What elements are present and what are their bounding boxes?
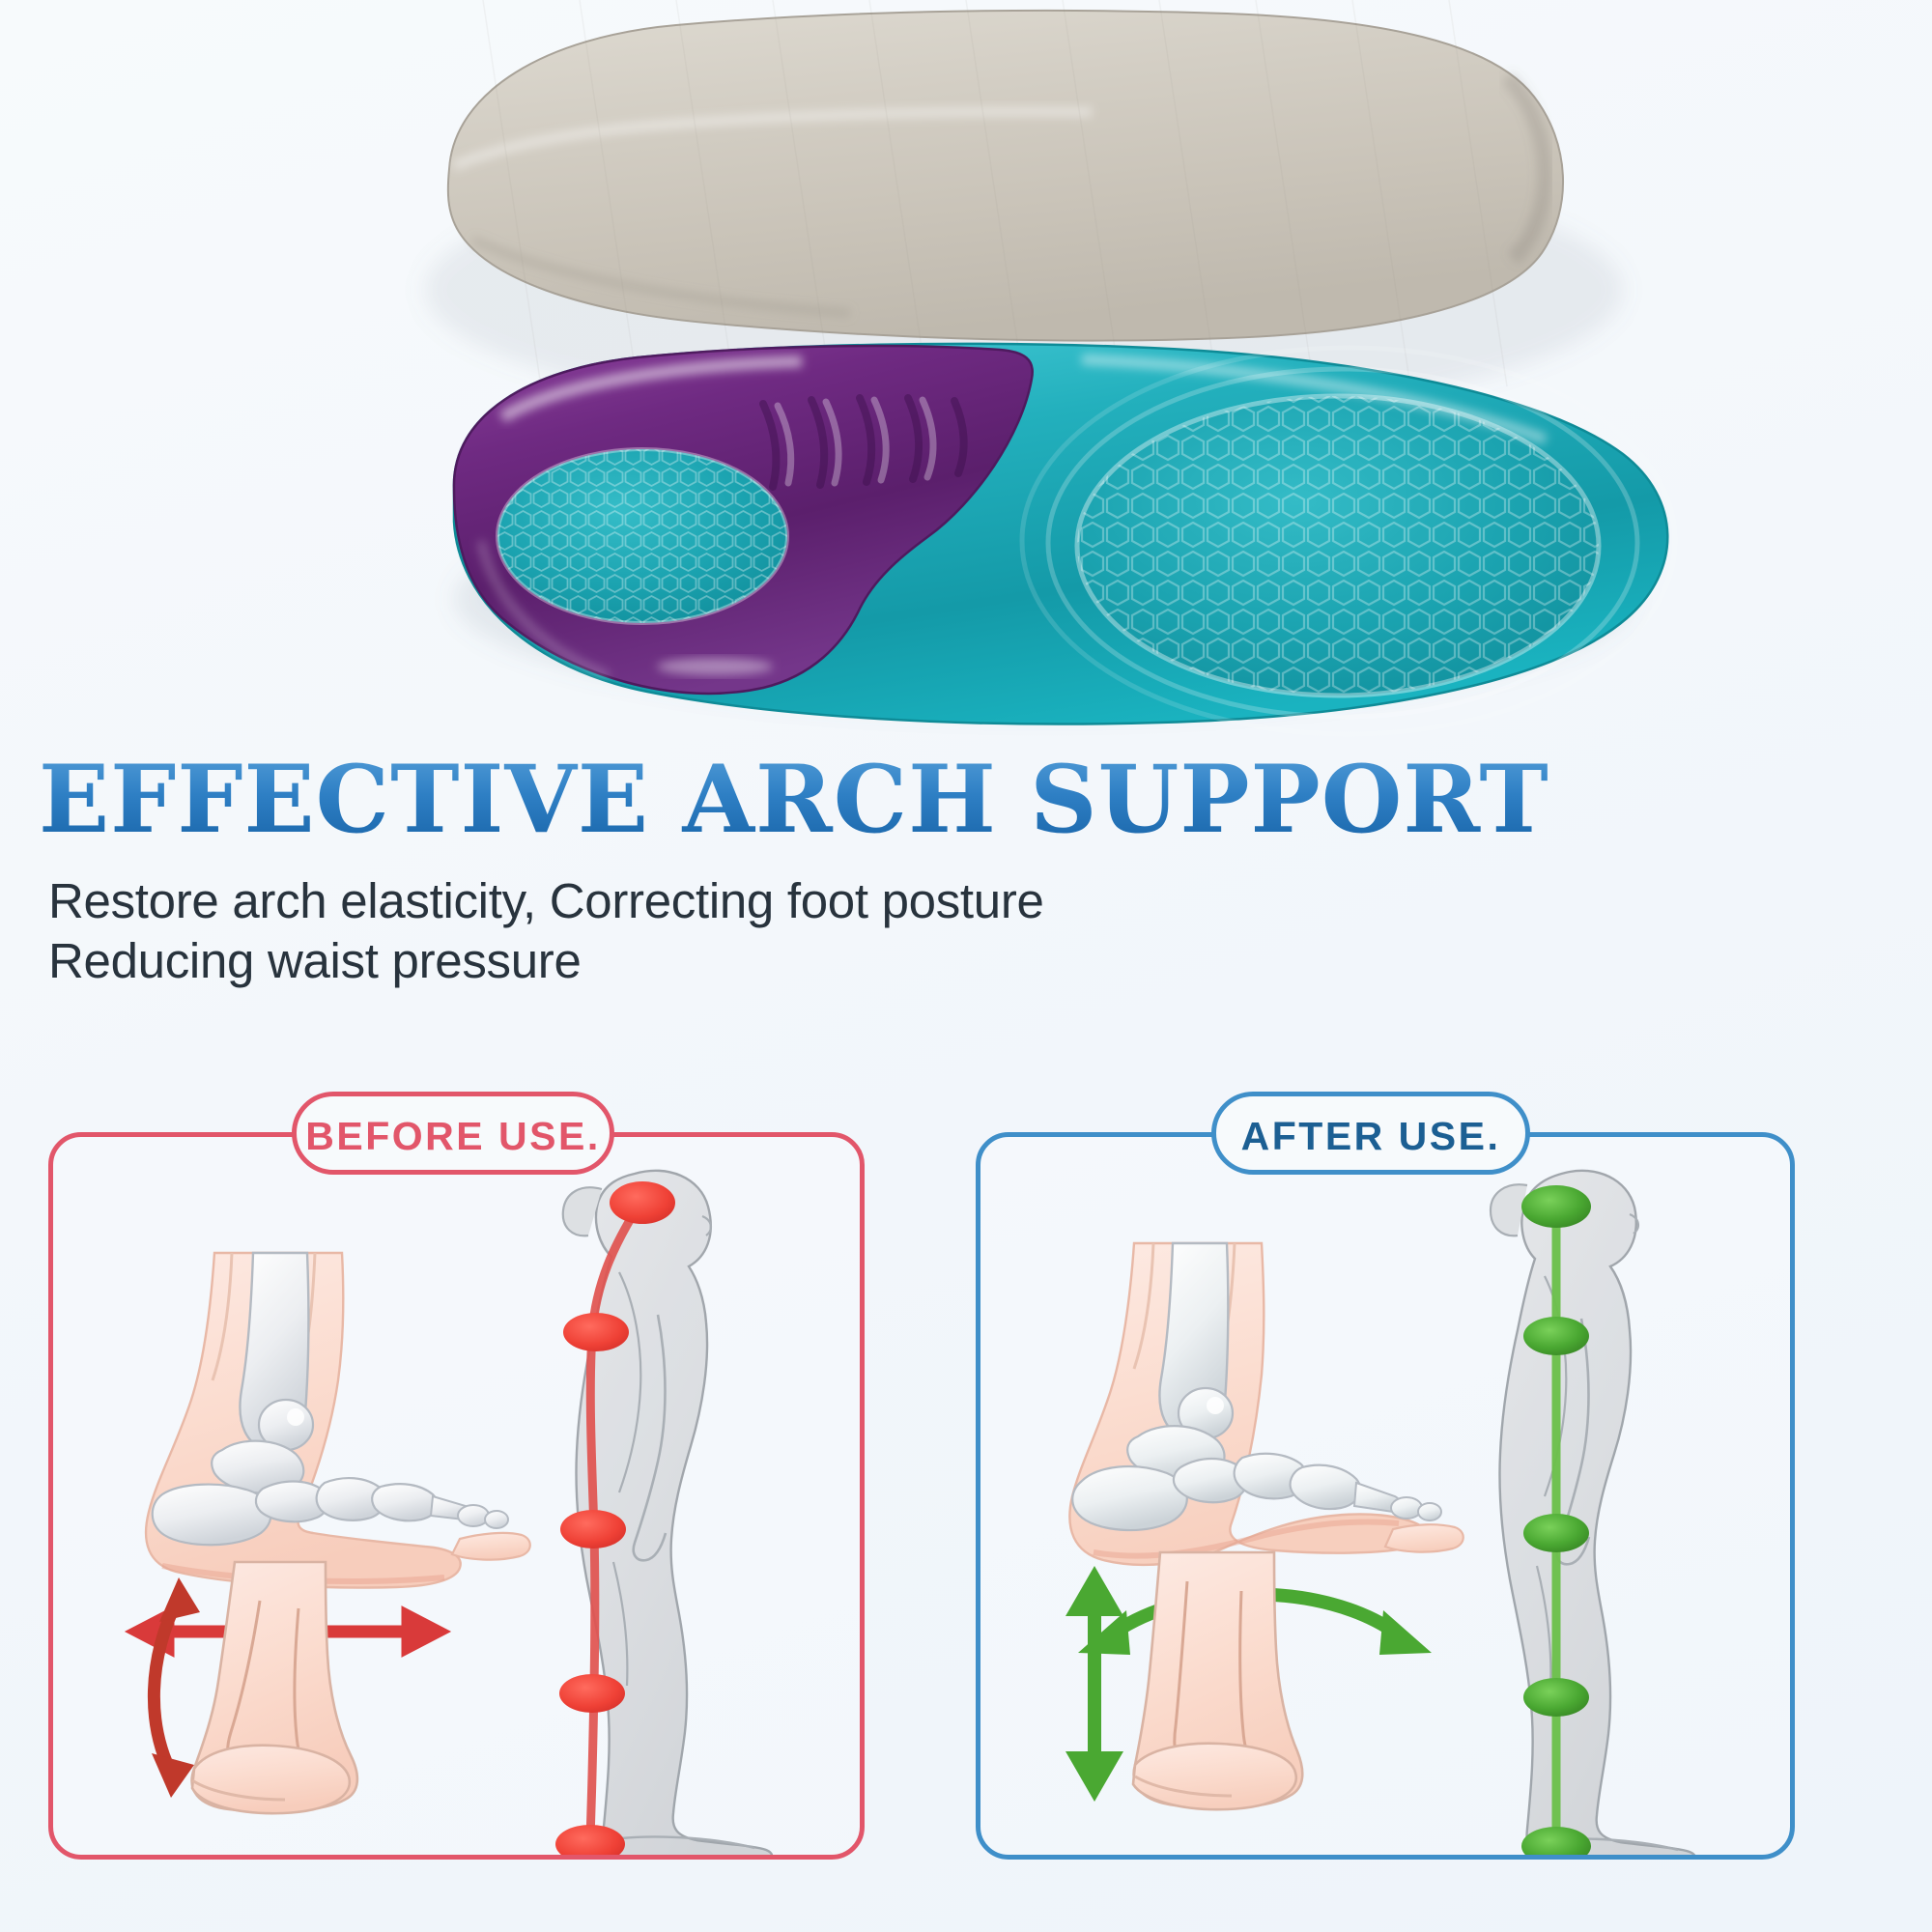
after-heel-arrow — [1065, 1566, 1123, 1802]
infographic-page: EFFECTIVE ARCH SUPPORT Restore arch elas… — [0, 0, 1932, 1932]
before-use-panel — [48, 1132, 865, 1860]
after-panel-content — [980, 1137, 1790, 1855]
page-subtitle: Restore arch elasticity, Correcting foot… — [48, 871, 1874, 991]
after-use-badge: AFTER USE. — [1211, 1092, 1530, 1175]
before-use-illustrations — [53, 1137, 860, 1855]
subtitle-line-1: Restore arch elasticity, Correcting foot… — [48, 871, 1874, 931]
before-panel-content — [53, 1137, 860, 1855]
page-title: EFFECTIVE ARCH SUPPORT — [39, 753, 1874, 846]
misaligned-posture-figure — [555, 1171, 772, 1855]
insole-pair-illustration — [0, 0, 1932, 763]
after-use-illustrations — [980, 1137, 1790, 1855]
subtitle-line-2: Reducing waist pressure — [48, 931, 1874, 991]
headline-block: EFFECTIVE ARCH SUPPORT Restore arch elas… — [39, 753, 1874, 991]
pronated-heel-rear — [152, 1562, 357, 1813]
comparison-section: BEFORE USE. AFTER USE. — [0, 1092, 1932, 1893]
before-use-badge: BEFORE USE. — [292, 1092, 614, 1175]
product-photo-stage — [0, 0, 1932, 763]
neutral-heel-rear — [1065, 1552, 1302, 1809]
aligned-posture-figure — [1491, 1171, 1695, 1855]
gel-insole-shape — [454, 344, 1675, 734]
after-use-panel — [976, 1132, 1795, 1860]
